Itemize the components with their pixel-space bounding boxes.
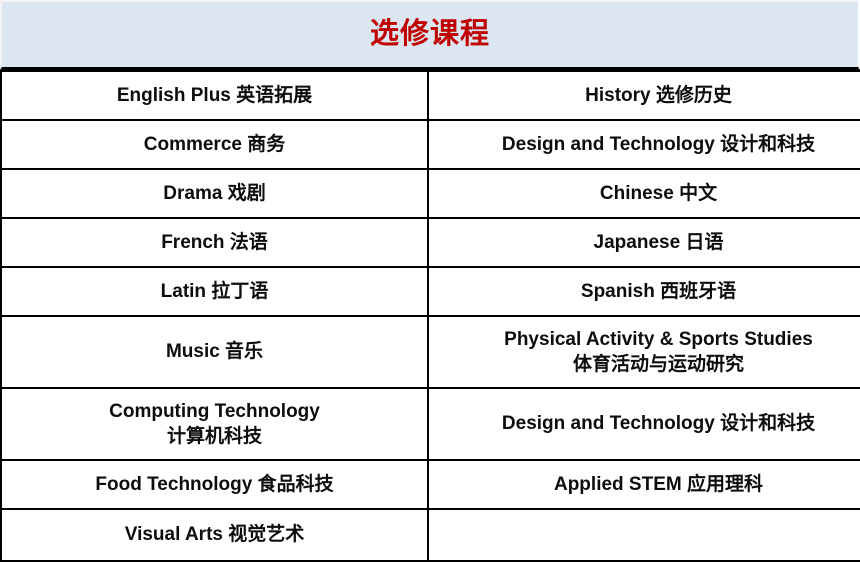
course-cell-left[interactable]: Computing Technology 计算机科技 xyxy=(1,388,428,460)
course-cell-right[interactable]: Physical Activity & Sports Studies 体育活动与… xyxy=(428,316,860,388)
course-cell-left[interactable]: Drama 戏剧 xyxy=(1,169,428,218)
course-name-line1: Commerce 商务 xyxy=(8,133,421,156)
course-name-line1: Drama 戏剧 xyxy=(8,182,421,205)
course-name-line1: Latin 拉丁语 xyxy=(8,280,421,303)
table-row: Food Technology 食品科技 Applied STEM 应用理科 xyxy=(1,460,860,509)
course-cell-right[interactable]: Chinese 中文 xyxy=(428,169,860,218)
course-cell-right[interactable]: Spanish 西班牙语 xyxy=(428,267,860,316)
course-name-line2: 体育活动与运动研究 xyxy=(435,353,860,376)
elective-courses-sheet: 选修课程 English Plus 英语拓展 History 选修历史 Comm… xyxy=(0,0,860,542)
course-name-line1: English Plus 英语拓展 xyxy=(8,84,421,107)
table-row: Commerce 商务 Design and Technology 设计和科技 xyxy=(1,120,860,169)
course-name-line1: Music 音乐 xyxy=(8,340,421,363)
course-name-line2: 计算机科技 xyxy=(8,425,421,448)
course-name-line1: Applied STEM 应用理科 xyxy=(435,473,860,496)
course-cell-left[interactable]: French 法语 xyxy=(1,218,428,267)
course-name-line1: Computing Technology xyxy=(8,400,421,423)
course-cell-left[interactable]: Latin 拉丁语 xyxy=(1,267,428,316)
course-name-line1: Chinese 中文 xyxy=(435,182,860,205)
course-cell-left[interactable]: English Plus 英语拓展 xyxy=(1,71,428,120)
table-row: Latin 拉丁语 Spanish 西班牙语 xyxy=(1,267,860,316)
course-cell-right[interactable]: Applied STEM 应用理科 xyxy=(428,460,860,509)
course-name-line1: Design and Technology 设计和科技 xyxy=(435,133,860,156)
course-cell-right[interactable]: Design and Technology 设计和科技 xyxy=(428,120,860,169)
course-cell-right-empty[interactable] xyxy=(428,509,860,561)
course-name-line1: Japanese 日语 xyxy=(435,231,860,254)
course-cell-left[interactable]: Commerce 商务 xyxy=(1,120,428,169)
table-row: French 法语 Japanese 日语 xyxy=(1,218,860,267)
course-name-line1: French 法语 xyxy=(8,231,421,254)
course-name-line1: Food Technology 食品科技 xyxy=(8,473,421,496)
course-name-line1: History 选修历史 xyxy=(435,84,860,107)
course-cell-left[interactable]: Food Technology 食品科技 xyxy=(1,460,428,509)
table-row: Drama 戏剧 Chinese 中文 xyxy=(1,169,860,218)
course-name-line1: Physical Activity & Sports Studies xyxy=(435,328,860,351)
course-name-line1: Design and Technology 设计和科技 xyxy=(435,412,860,435)
page-title-banner: 选修课程 xyxy=(0,0,860,70)
table-row: Visual Arts 视觉艺术 xyxy=(1,509,860,561)
table-row: Music 音乐 Physical Activity & Sports Stud… xyxy=(1,316,860,388)
course-cell-right[interactable]: History 选修历史 xyxy=(428,71,860,120)
course-name-line1: Spanish 西班牙语 xyxy=(435,280,860,303)
course-cell-right[interactable]: Japanese 日语 xyxy=(428,218,860,267)
course-cell-left[interactable]: Visual Arts 视觉艺术 xyxy=(1,509,428,561)
course-cell-left[interactable]: Music 音乐 xyxy=(1,316,428,388)
course-cell-right[interactable]: Design and Technology 设计和科技 xyxy=(428,388,860,460)
course-name-line1: Visual Arts 视觉艺术 xyxy=(8,523,421,546)
page-title: 选修课程 xyxy=(370,20,490,49)
table-body: English Plus 英语拓展 History 选修历史 Commerce … xyxy=(1,71,860,561)
elective-courses-table: English Plus 英语拓展 History 选修历史 Commerce … xyxy=(0,70,860,562)
table-row: Computing Technology 计算机科技 Design and Te… xyxy=(1,388,860,460)
table-row: English Plus 英语拓展 History 选修历史 xyxy=(1,71,860,120)
